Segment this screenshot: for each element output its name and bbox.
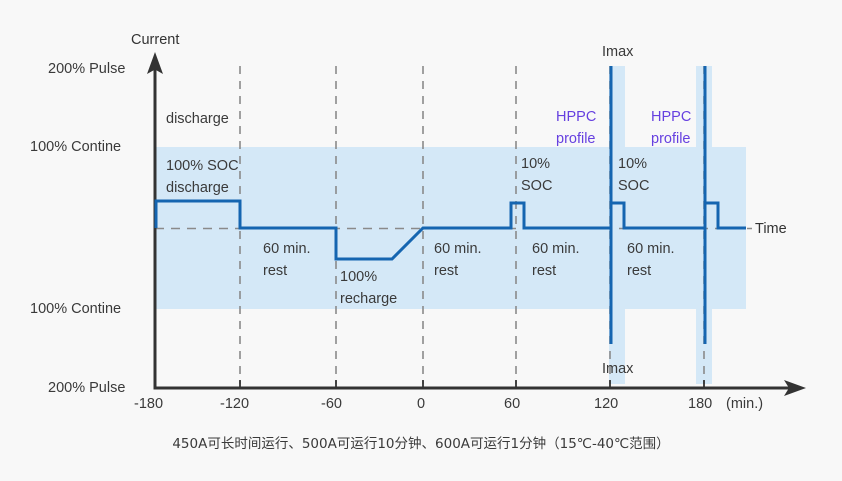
annotation-rest2-line2: rest [434, 262, 458, 280]
x-tick-label--120: -120 [220, 395, 249, 413]
annotation-soc-discharge-line1: 100% SOC [166, 157, 239, 175]
x-tick-label--60: -60 [321, 395, 342, 413]
chart-figure: Current Time 200% Pulse 100% Contine 100… [0, 0, 842, 481]
x-tick-label-0: 0 [417, 395, 425, 413]
x-tick-label-180: 180 [688, 395, 712, 413]
annotation-rest4-line2: rest [627, 262, 651, 280]
annotation-discharge: discharge [166, 110, 229, 128]
y-label-100-contine-bottom: 100% Contine [30, 300, 121, 318]
annotation-rest4-line1: 60 min. [627, 240, 675, 258]
y-label-200-pulse-bottom: 200% Pulse [48, 379, 125, 397]
annotation-rest3-line2: rest [532, 262, 556, 280]
y-axis-title: Current [131, 31, 179, 49]
annotation-rest3-line1: 60 min. [532, 240, 580, 258]
x-axis-unit-label: (min.) [726, 395, 763, 413]
annotation-soc10-a-line2: SOC [521, 177, 552, 195]
annotation-rest2-line1: 60 min. [434, 240, 482, 258]
y-label-100-contine-top: 100% Contine [30, 138, 121, 156]
chart-caption: 450A可长时间运行、500A可运行10分钟、600A可运行1分钟（15℃-40… [0, 432, 842, 452]
annotation-imax-top: Imax [602, 43, 633, 61]
annotation-hppc-a-line2: profile [556, 130, 596, 148]
x-tick-label-120: 120 [594, 395, 618, 413]
annotation-hppc-a-line1: HPPC [556, 108, 596, 126]
annotation-recharge-line2: recharge [340, 290, 397, 308]
annotation-rest1-line1: 60 min. [263, 240, 311, 258]
annotation-imax-bottom: Imax [602, 360, 633, 378]
x-tick-label--180: -180 [134, 395, 163, 413]
y-label-200-pulse-top: 200% Pulse [48, 60, 125, 78]
annotation-hppc-b-line1: HPPC [651, 108, 691, 126]
annotation-soc-discharge-line2: discharge [166, 179, 229, 197]
annotation-hppc-b-line2: profile [651, 130, 691, 148]
annotation-soc10-b-line2: SOC [618, 177, 649, 195]
annotation-recharge-line1: 100% [340, 268, 377, 286]
x-tick-label-60: 60 [504, 395, 520, 413]
x-axis-title: Time [755, 220, 787, 238]
annotation-soc10-a-line1: 10% [521, 155, 550, 173]
annotation-rest1-line2: rest [263, 262, 287, 280]
annotation-soc10-b-line1: 10% [618, 155, 647, 173]
